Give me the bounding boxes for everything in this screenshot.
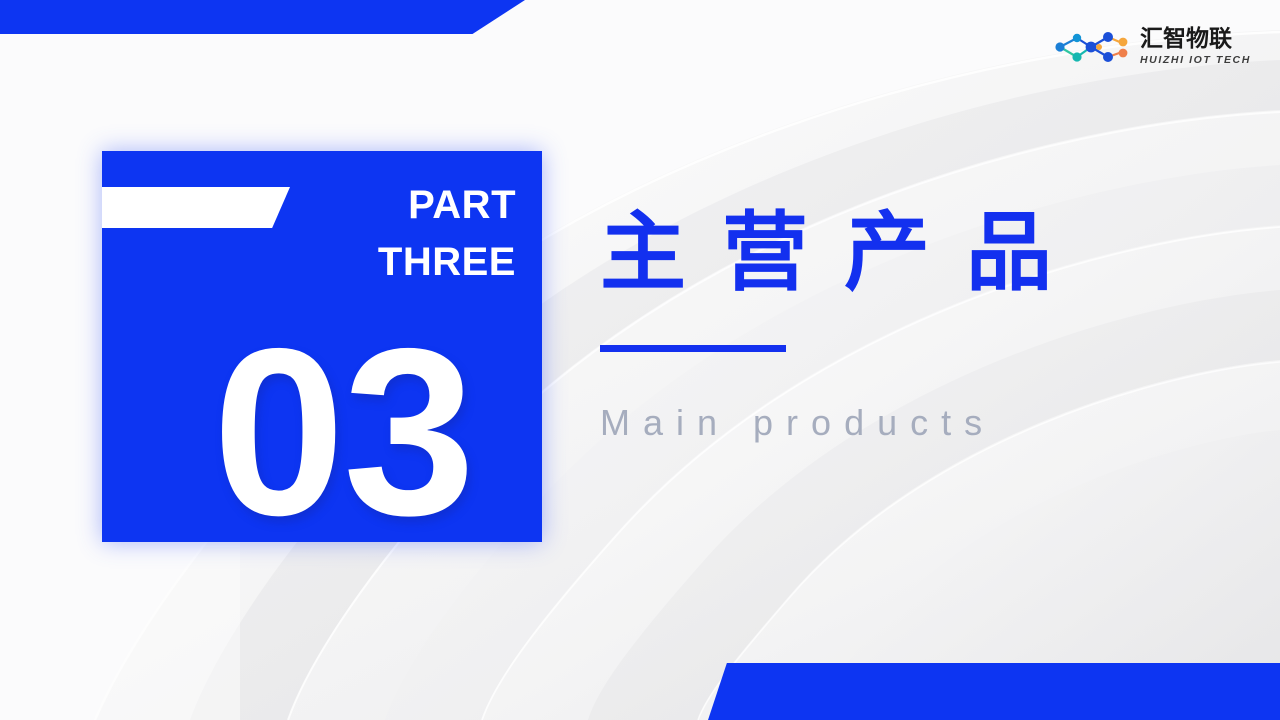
bottom-right-accent-bar: [708, 663, 1280, 720]
card-slash-accent: [102, 187, 290, 228]
slide-root: 汇智物联 HUIZHI IOT TECH PART THREE 03 主营产品 …: [0, 0, 1280, 720]
section-subtitle-english: Main products: [600, 402, 1200, 444]
part-label: PART THREE: [276, 177, 516, 291]
network-molecule-icon: [1046, 26, 1132, 68]
company-logo: 汇智物联 HUIZHI IOT TECH: [1046, 26, 1251, 68]
logo-chinese-name: 汇智物联: [1140, 28, 1251, 51]
headline-group: 主营产品 Main products: [600, 205, 1200, 444]
part-number: 03: [102, 314, 542, 552]
section-number-card: PART THREE 03: [102, 151, 542, 542]
top-left-accent-bar: [0, 0, 525, 34]
logo-english-name: HUIZHI IOT TECH: [1140, 55, 1251, 66]
title-underline-rule: [600, 345, 786, 352]
section-title-chinese: 主营产品: [600, 205, 1200, 301]
